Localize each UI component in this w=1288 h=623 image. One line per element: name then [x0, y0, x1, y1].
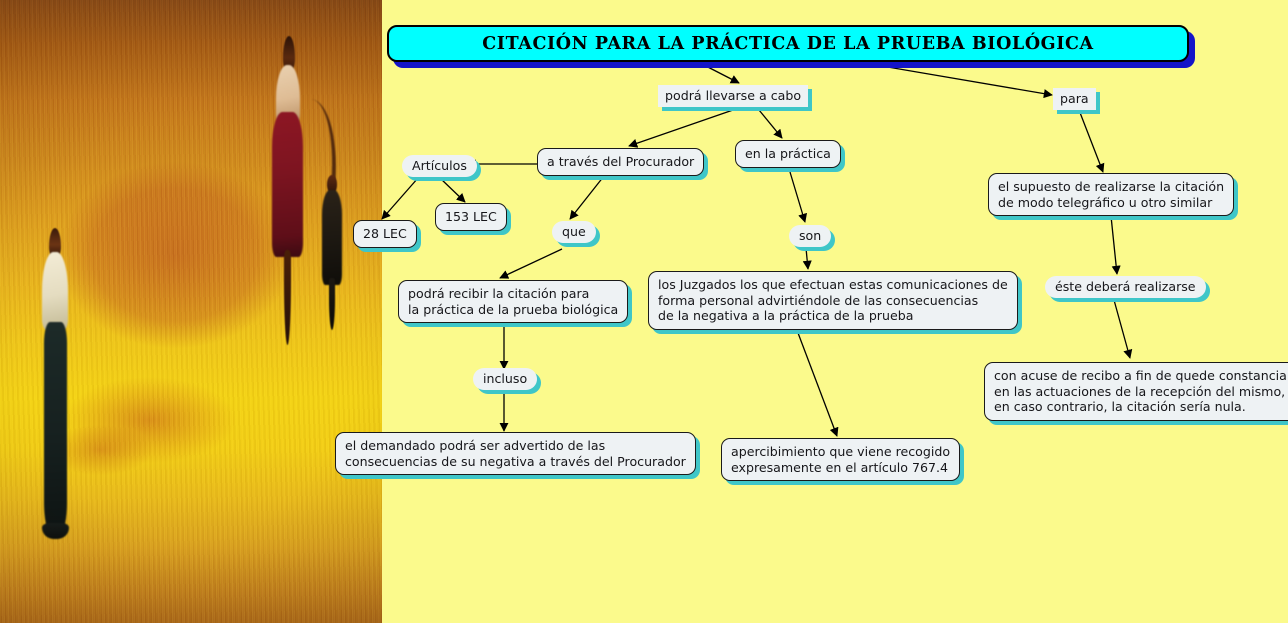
diagram-title-node: CITACIÓN PARA LA PRÁCTICA DE LA PRUEBA B…: [387, 25, 1189, 62]
edge-title-para: [864, 63, 1052, 95]
node-label: incluso: [483, 371, 527, 387]
node-este-debera-realizarse[interactable]: éste deberá realizarse: [1045, 276, 1206, 298]
edge-supuesto-realizarse: [1111, 216, 1117, 274]
edge-procurador-que: [570, 176, 604, 219]
node-podra-recibir-citacion[interactable]: podrá recibir la citación para la prácti…: [398, 280, 628, 323]
edge-juzgados-apercibimiento: [795, 325, 837, 436]
edge-title-podra: [700, 63, 739, 83]
node-label: podrá recibir la citación para la prácti…: [408, 286, 618, 317]
node-28-lec[interactable]: 28 LEC: [353, 220, 417, 248]
node-label: a través del Procurador: [547, 154, 694, 170]
node-acuse-de-recibo[interactable]: con acuse de recibo a fin de quede const…: [984, 362, 1288, 421]
node-apercibimiento-767-4[interactable]: apercibimiento que viene recogido expres…: [721, 438, 960, 481]
page-title: CITACIÓN PARA LA PRÁCTICA DE LA PRUEBA B…: [482, 34, 1093, 54]
node-label: son: [799, 228, 821, 244]
node-en-la-practica[interactable]: en la práctica: [735, 140, 841, 168]
node-label: éste deberá realizarse: [1055, 279, 1196, 295]
node-label: para: [1060, 91, 1089, 107]
node-label: Artículos: [412, 158, 467, 174]
node-label: 153 LEC: [445, 209, 497, 225]
node-label: apercibimiento que viene recogido expres…: [731, 444, 950, 475]
edge-articulos-lec153: [440, 178, 465, 202]
artwork-vignette: [0, 0, 382, 623]
node-son[interactable]: son: [789, 225, 831, 247]
node-a-traves-del-procurador[interactable]: a través del Procurador: [537, 148, 704, 176]
edge-realizarse-acuse: [1114, 300, 1130, 358]
node-label: el demandado podrá ser advertido de las …: [345, 438, 686, 469]
node-para[interactable]: para: [1053, 88, 1096, 110]
concept-map-page: CITACIÓN PARA LA PRÁCTICA DE LA PRUEBA B…: [0, 0, 1288, 623]
node-los-juzgados[interactable]: los Juzgados los que efectuan estas comu…: [648, 271, 1018, 330]
node-demandado-advertido[interactable]: el demandado podrá ser advertido de las …: [335, 432, 696, 475]
edge-articulos-lec28: [382, 178, 418, 219]
artwork-panel: [0, 0, 382, 623]
node-label: 28 LEC: [363, 226, 407, 242]
node-articulos[interactable]: Artículos: [402, 155, 477, 177]
node-podra-llevarse-a-cabo[interactable]: podrá llevarse a cabo: [658, 85, 808, 107]
node-label: los Juzgados los que efectuan estas comu…: [658, 277, 1008, 324]
edge-practica-son: [790, 172, 805, 222]
node-label: que: [562, 224, 586, 240]
node-label: en la práctica: [745, 146, 831, 162]
node-label: con acuse de recibo a fin de quede const…: [994, 368, 1287, 415]
edge-son-juzgados: [806, 248, 808, 269]
edge-que-recibir: [500, 249, 562, 278]
edge-podra-practica: [759, 110, 782, 138]
node-153-lec[interactable]: 153 LEC: [435, 203, 507, 231]
edge-podra-procurador: [629, 110, 733, 146]
node-supuesto-telegrafico[interactable]: el supuesto de realizarse la citación de…: [988, 173, 1234, 216]
node-label: el supuesto de realizarse la citación de…: [998, 179, 1224, 210]
edge-para-supuesto: [1079, 110, 1103, 172]
node-que[interactable]: que: [552, 221, 596, 243]
node-label: podrá llevarse a cabo: [665, 88, 801, 104]
node-incluso[interactable]: incluso: [473, 368, 537, 390]
